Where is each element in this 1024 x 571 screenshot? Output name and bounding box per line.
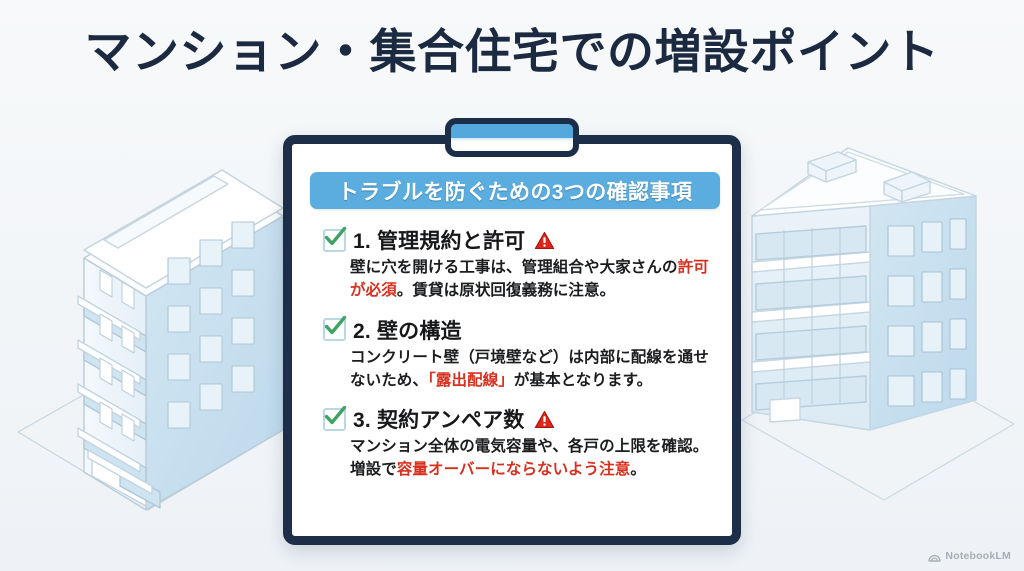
checklist-item-header: 1. 管理規約と許可 (323, 226, 714, 254)
isometric-apartment-building-right (742, 148, 1014, 500)
body-text-highlight: 「露出配線」 (428, 372, 514, 389)
checklist-item-title: 1. 管理規約と許可 (353, 225, 525, 255)
checklist-item-body: 壁に穴を開ける工事は、管理組合や大家さんの許可が必須。賃貸は原状回復義務に注意。 (350, 256, 714, 303)
list-item: 1. 管理規約と許可 壁に穴を開ける工事は、管理組合や大家さんの許可が必須。賃貸… (323, 226, 714, 303)
checkbox-checked-icon[interactable] (323, 318, 346, 341)
list-item: 3. 契約アンペア数 マンション全体の電気容量や、各戸の上限を確認。増設で容量オ… (323, 405, 714, 482)
section-banner: トラブルを防ぐための3つの確認事項 (310, 172, 720, 209)
slide-canvas: マンション・集合住宅での増設ポイント トラブルを防ぐための3つの確認事項 1. … (0, 0, 1024, 571)
notebooklm-logo-icon (928, 551, 941, 562)
clipboard-clip (445, 118, 579, 157)
checklist-item-header: 3. 契約アンペア数 (323, 405, 714, 433)
checklist-item-title: 3. 契約アンペア数 (353, 404, 525, 434)
checkbox-checked-icon[interactable] (323, 229, 346, 252)
warning-triangle-icon (534, 410, 555, 429)
isometric-apartment-building-left (18, 170, 300, 510)
checklist: 1. 管理規約と許可 壁に穴を開ける工事は、管理組合や大家さんの許可が必須。賃貸… (310, 226, 714, 482)
watermark: NotebookLM (928, 550, 1011, 562)
body-text-plain-2: が基本となります。 (514, 372, 652, 389)
section-banner-label: トラブルを防ぐための3つの確認事項 (338, 176, 692, 206)
checklist-item-header: 2. 壁の構造 (323, 316, 714, 344)
body-text-plain: 壁に穴を開ける工事は、管理組合や大家さんの (350, 259, 678, 276)
clipboard-sheet: トラブルを防ぐための3つの確認事項 1. 管理規約と許可 (292, 144, 732, 536)
checkbox-checked-icon[interactable] (323, 408, 346, 431)
checklist-item-body: マンション全体の電気容量や、各戸の上限を確認。増設で容量オーバーにならないよう注… (350, 435, 714, 482)
body-text-plain-2: 。 (630, 461, 646, 478)
warning-triangle-icon (534, 231, 555, 250)
body-text-plain-2: 。賃貸は原状回復義務に注意。 (397, 282, 615, 299)
checklist-item-body: コンクリート壁（戸境壁など）は内部に配線を通せないため、「露出配線」が基本となり… (350, 346, 714, 393)
page-title: マンション・集合住宅での増設ポイント (0, 26, 1024, 78)
watermark-label: NotebookLM (945, 550, 1011, 562)
list-item: 2. 壁の構造 コンクリート壁（戸境壁など）は内部に配線を通せないため、「露出配… (323, 316, 714, 393)
checklist-item-title: 2. 壁の構造 (353, 315, 462, 345)
body-text-highlight: 容量オーバーにならないよう注意 (397, 461, 631, 478)
